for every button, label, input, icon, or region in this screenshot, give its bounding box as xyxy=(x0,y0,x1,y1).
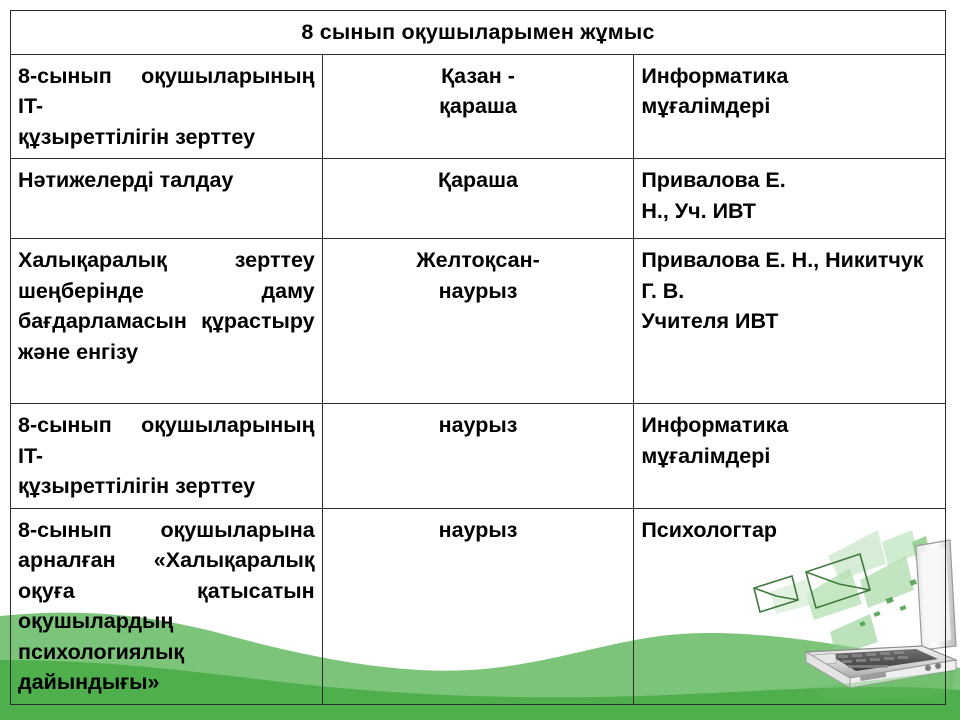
responsible-text-line: мұғалімдері xyxy=(641,441,938,472)
table-row: Халықаралық зерттеу шеңберінде даму бағд… xyxy=(11,239,946,404)
task-text-line: құзыреттілігін зерттеу xyxy=(18,471,315,502)
period-text-line: Желтоқсан- xyxy=(330,245,627,276)
responsible-text-line: Учителя ИВТ xyxy=(641,306,938,337)
task-text-line: және енгізу xyxy=(18,337,315,368)
responsible-text-line: мұғалімдері xyxy=(641,91,938,122)
cell-task: Нәтижелерді талдау xyxy=(11,159,323,239)
cell-responsible: Информатика мұғалімдері xyxy=(634,404,946,509)
table-header: 8 сынып оқушыларымен жұмыс xyxy=(11,11,946,55)
task-text-line: 8-сынып оқушыларының IT- xyxy=(18,413,315,468)
period-text-line: қараша xyxy=(330,91,627,122)
task-text-line: 8-сынып оқушыларына арналған «Халықаралы… xyxy=(18,518,315,664)
task-text-line: дайындығы» xyxy=(18,667,315,698)
task-text-line: Халықаралық зерттеу шеңберінде даму бағд… xyxy=(18,248,315,333)
responsible-text-line: Привалова Е. Н., Никитчук Г. В. xyxy=(641,245,938,306)
task-text-line: 8-сынып оқушыларының IT- xyxy=(18,64,315,119)
cell-period: наурыз xyxy=(322,508,634,704)
cell-responsible: Информатика мұғалімдері xyxy=(634,54,946,159)
table-row: Нәтижелерді талдау Қараша Привалова Е. Н… xyxy=(11,159,946,239)
cell-period: Қазан - қараша xyxy=(322,54,634,159)
cell-responsible: Психологтар xyxy=(634,508,946,704)
work-plan-table: 8 сынып оқушыларымен жұмыс 8-сынып оқушы… xyxy=(10,10,946,705)
responsible-text-line: Информатика xyxy=(641,61,938,92)
work-plan-table-wrapper: 8 сынып оқушыларымен жұмыс 8-сынып оқушы… xyxy=(10,10,946,705)
cell-period: Қараша xyxy=(322,159,634,239)
table-title-row: 8 сынып оқушыларымен жұмыс xyxy=(11,11,946,55)
task-text-line: құзыреттілігін зерттеу xyxy=(18,122,315,153)
table-row: 8-сынып оқушыларының IT- құзыреттілігін … xyxy=(11,404,946,509)
period-text-line: Қараша xyxy=(330,165,627,196)
cell-responsible: Привалова Е. Н., Уч. ИВТ xyxy=(634,159,946,239)
period-text-line: наурыз xyxy=(330,276,627,307)
cell-task: 8-сынып оқушыларының IT- құзыреттілігін … xyxy=(11,54,323,159)
period-text-line: Қазан - xyxy=(330,61,627,92)
responsible-text-line: Привалова Е. xyxy=(641,165,938,196)
period-text-line: наурыз xyxy=(330,410,627,441)
cell-period: наурыз xyxy=(322,404,634,509)
cell-responsible: Привалова Е. Н., Никитчук Г. В. Учителя … xyxy=(634,239,946,404)
table-body: 8-сынып оқушыларының IT- құзыреттілігін … xyxy=(11,54,946,704)
responsible-text-line: Н., Уч. ИВТ xyxy=(641,196,938,227)
cell-period: Желтоқсан- наурыз xyxy=(322,239,634,404)
cell-task: Халықаралық зерттеу шеңберінде даму бағд… xyxy=(11,239,323,404)
responsible-text-line: Информатика xyxy=(641,410,938,441)
slide-title: 8 сынып оқушыларымен жұмыс xyxy=(11,11,946,55)
table-row: 8-сынып оқушыларының IT- құзыреттілігін … xyxy=(11,54,946,159)
table-row: 8-сынып оқушыларына арналған «Халықаралы… xyxy=(11,508,946,704)
responsible-text-line: Психологтар xyxy=(641,515,938,546)
cell-task: 8-сынып оқушыларының IT- құзыреттілігін … xyxy=(11,404,323,509)
task-text-line: Нәтижелерді талдау xyxy=(18,165,315,196)
period-text-line: наурыз xyxy=(330,515,627,546)
cell-task: 8-сынып оқушыларына арналған «Халықаралы… xyxy=(11,508,323,704)
slide-canvas: 8 сынып оқушыларымен жұмыс 8-сынып оқушы… xyxy=(0,0,960,720)
